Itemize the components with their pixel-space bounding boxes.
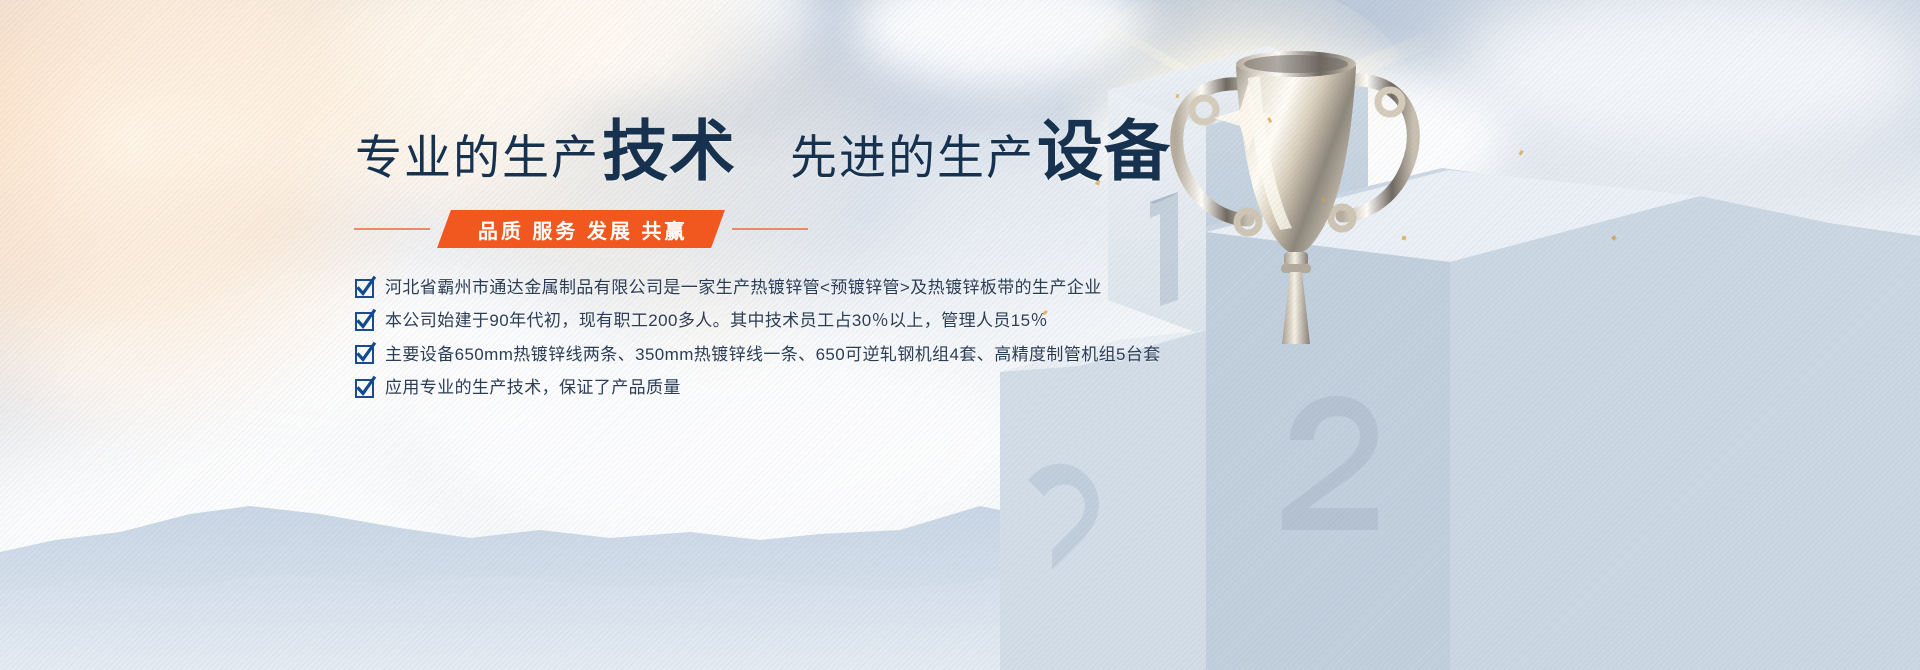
feature-bullet-list: 河北省霸州市通达金属制品有限公司是一家生产热镀锌管<预镀锌管>及热镀锌板带的生产…	[355, 278, 1355, 399]
list-item-text: 应用专业的生产技术，保证了产品质量	[385, 378, 681, 398]
banner-content: 专业的生产 技术 先进的生产 设备 品质 服务 发展 共赢 河北省霸州	[355, 118, 1355, 412]
list-item-text: 本公司始建于90年代初，现有职工200多人。其中技术员工占30％以上，管理人员1…	[385, 311, 1048, 331]
list-item: 本公司始建于90年代初，现有职工200多人。其中技术员工占30％以上，管理人员1…	[355, 311, 1355, 331]
list-item: 应用专业的生产技术，保证了产品质量	[355, 378, 1355, 398]
slogan-ribbon: 品质 服务 发展 共赢	[437, 210, 725, 248]
hero-banner: 专业的生产 技术 先进的生产 设备 品质 服务 发展 共赢 河北省霸州	[0, 0, 1920, 670]
headline-part2-small: 先进的生产	[790, 134, 1035, 181]
headline-part2-large: 设备	[1037, 118, 1171, 184]
checkbox-checked-icon	[355, 379, 374, 398]
ribbon-line-left	[354, 228, 430, 230]
headline: 专业的生产 技术 先进的生产 设备	[355, 118, 1355, 184]
headline-part1-large: 技术	[602, 118, 736, 184]
checkbox-checked-icon	[355, 312, 374, 331]
headline-part1-small: 专业的生产	[355, 134, 600, 181]
ribbon-line-right	[732, 228, 808, 230]
list-item: 河北省霸州市通达金属制品有限公司是一家生产热镀锌管<预镀锌管>及热镀锌板带的生产…	[355, 278, 1355, 298]
slogan-ribbon-row: 品质 服务 发展 共赢	[354, 210, 899, 248]
list-item: 主要设备650mm热镀锌线两条、350mm热镀锌线一条、650可逆轧钢机组4套、…	[355, 345, 1355, 365]
list-item-text: 河北省霸州市通达金属制品有限公司是一家生产热镀锌管<预镀锌管>及热镀锌板带的生产…	[385, 278, 1102, 298]
slogan-text: 品质 服务 发展 共赢	[478, 215, 688, 244]
checkbox-checked-icon	[355, 345, 374, 364]
checkbox-checked-icon	[355, 279, 374, 298]
list-item-text: 主要设备650mm热镀锌线两条、350mm热镀锌线一条、650可逆轧钢机组4套、…	[385, 345, 1161, 365]
